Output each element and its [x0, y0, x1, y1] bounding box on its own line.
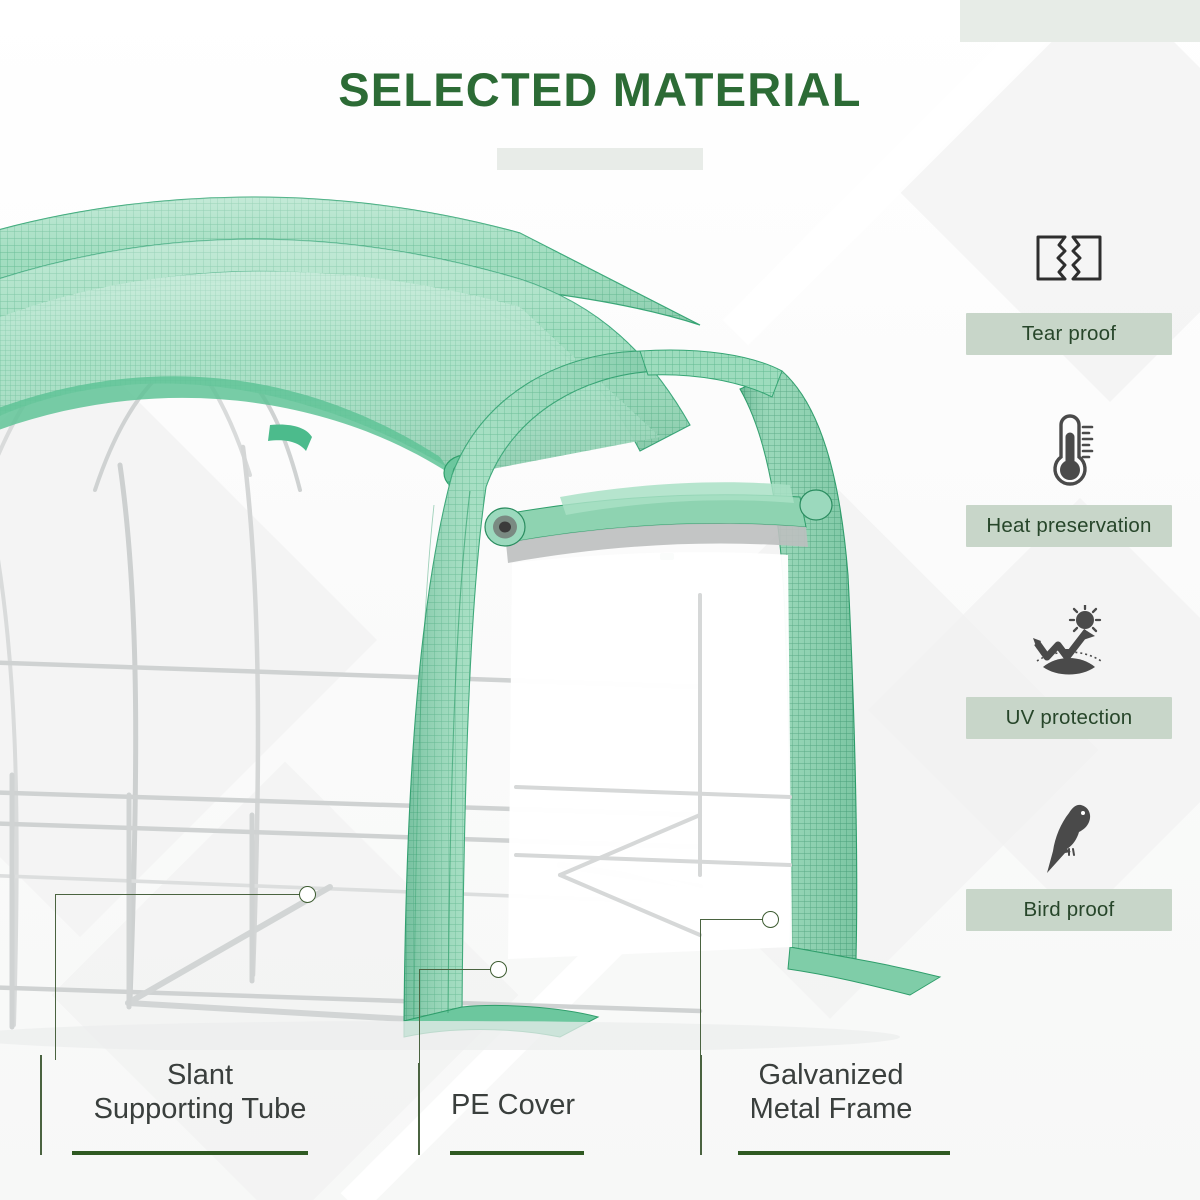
callout-pe-cover[interactable]: PE Cover — [418, 1063, 608, 1167]
feature-uv-protection[interactable]: UV protection — [966, 589, 1172, 781]
callout-label: Slant Supporting Tube — [40, 1055, 360, 1134]
leader-line-slant-tube-h — [55, 894, 305, 895]
leader-line-slant-tube-v — [55, 894, 56, 1060]
feature-label: Heat preservation — [966, 505, 1172, 547]
callout-left-rule — [418, 1063, 420, 1155]
feature-label: UV protection — [966, 697, 1172, 739]
bird-icon — [966, 787, 1172, 883]
callout-slant-supporting-tube[interactable]: Slant Supporting Tube — [40, 1055, 360, 1167]
greenhouse-illustration — [0, 175, 980, 1050]
tear-proof-icon — [966, 211, 1172, 307]
callout-bottom-rule — [72, 1151, 308, 1155]
feature-tear-proof[interactable]: Tear proof — [966, 205, 1172, 397]
callout-left-rule — [40, 1055, 42, 1155]
feature-label: Bird proof — [966, 889, 1172, 931]
feature-rail: Tear proof Heat pr — [966, 205, 1172, 973]
marker-frame — [762, 911, 779, 928]
thermometer-icon — [966, 403, 1172, 499]
callout-galvanized-metal-frame[interactable]: Galvanized Metal Frame — [700, 1055, 962, 1167]
leader-line-frame-v — [700, 919, 701, 1067]
marker-slant-tube — [299, 886, 316, 903]
corner-accent-swatch — [960, 0, 1200, 42]
feature-heat-preservation[interactable]: Heat preservation — [966, 397, 1172, 589]
callout-label: PE Cover — [418, 1063, 608, 1131]
uv-protection-icon — [966, 595, 1172, 691]
leader-line-pe-cover-v — [419, 969, 420, 1067]
callout-left-rule — [700, 1055, 702, 1155]
title-underline-bar — [497, 148, 703, 170]
leader-line-frame-h — [700, 919, 770, 920]
page-title: SELECTED MATERIAL — [0, 62, 1200, 117]
infographic-canvas: SELECTED MATERIAL — [0, 0, 1200, 1200]
feature-bird-proof[interactable]: Bird proof — [966, 781, 1172, 973]
callout-bottom-rule — [450, 1151, 584, 1155]
callout-bottom-rule — [738, 1151, 950, 1155]
leader-line-pe-cover-h — [419, 969, 499, 970]
callout-label: Galvanized Metal Frame — [700, 1055, 962, 1134]
feature-label: Tear proof — [966, 313, 1172, 355]
marker-pe-cover — [490, 961, 507, 978]
